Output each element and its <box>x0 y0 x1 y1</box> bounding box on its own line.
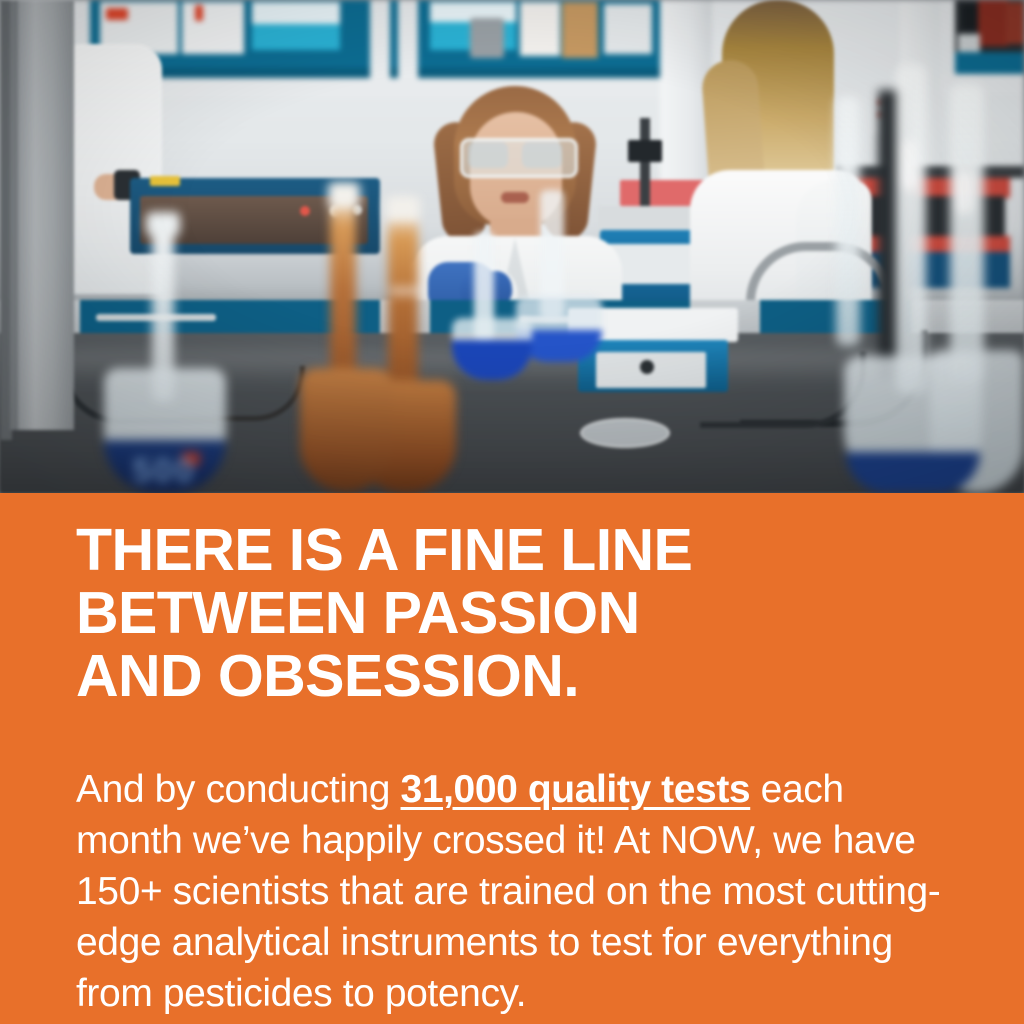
page-title: THERE IS A FINE LINE BETWEEN PASSION AND… <box>76 519 976 708</box>
body-highlight-quality-tests: 31,000 quality tests <box>401 768 751 811</box>
photo-vignette <box>0 0 1024 493</box>
headline-line-1: THERE IS A FINE LINE <box>76 519 976 582</box>
body-text-before: And by conducting <box>76 768 401 811</box>
body-paragraph: And by conducting 31,000 quality tests e… <box>76 764 956 1019</box>
headline-line-2: BETWEEN PASSION <box>76 582 976 645</box>
orange-text-panel: THERE IS A FINE LINE BETWEEN PASSION AND… <box>0 493 1024 1024</box>
poster-root: 500 THERE IS A FINE LINE BETWEEN PASSION… <box>0 0 1024 1024</box>
lab-photo: 500 <box>0 0 1024 493</box>
headline-line-3: AND OBSESSION. <box>76 645 976 708</box>
